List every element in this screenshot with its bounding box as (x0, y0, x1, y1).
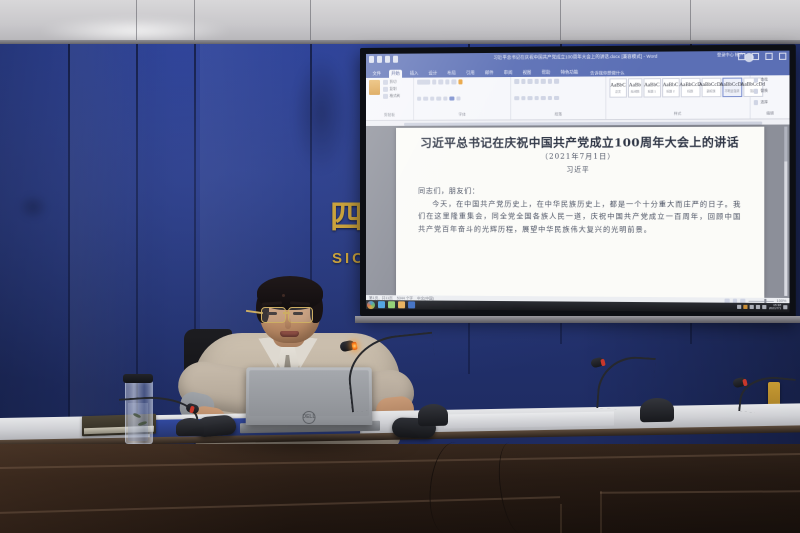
tab-review[interactable]: 审阅 (501, 69, 515, 77)
style-normal[interactable]: AaBbC正文 (609, 78, 627, 97)
projection-screen[interactable]: 习近平总书记在庆祝中国共产党成立100周年大会上的讲话.docx [兼容模式] … (360, 44, 796, 319)
format-painter-label: 格式刷 (390, 94, 401, 99)
nose (285, 317, 291, 329)
font-size-box[interactable] (432, 80, 437, 85)
grow-font-icon[interactable] (439, 79, 444, 84)
tab-insert[interactable]: 插入 (407, 70, 421, 78)
forehead-mark (282, 294, 285, 297)
glasses-lens-left (261, 307, 286, 323)
subscript-icon[interactable] (443, 96, 448, 101)
ribbon-group-font[interactable]: 字体 (414, 77, 512, 120)
tab-design[interactable]: 设计 (426, 69, 440, 77)
show-desktop-icon[interactable] (783, 306, 787, 310)
align-right-icon[interactable] (528, 96, 533, 101)
document-date: （2021年7月1日） (418, 150, 741, 164)
tab-help[interactable]: 帮助 (539, 69, 553, 77)
replace-label: 替换 (761, 89, 768, 94)
sort-icon[interactable] (548, 79, 553, 84)
style-title[interactable]: AaBbCcD标题 (680, 78, 700, 98)
align-left-icon[interactable] (515, 96, 520, 101)
glasses-bridge (283, 312, 290, 314)
scrollbar-thumb[interactable] (784, 127, 787, 162)
search-icon[interactable] (754, 78, 759, 83)
ceiling-seam (310, 0, 311, 44)
vertical-scrollbar[interactable] (784, 127, 787, 296)
copy-icon[interactable] (383, 87, 388, 92)
mic-base-center (640, 398, 674, 423)
ceiling (0, 0, 800, 44)
group-label-clipboard: 剪贴板 (369, 113, 410, 118)
redo-icon[interactable] (385, 56, 390, 63)
tab-references[interactable]: 引用 (463, 69, 477, 77)
find-label: 查找 (761, 77, 768, 82)
paste-icon[interactable] (369, 80, 380, 95)
cut-icon[interactable] (383, 80, 388, 85)
ribbon-display-options-icon[interactable] (738, 53, 745, 60)
podium-front (0, 444, 800, 533)
ceiling-seam (560, 0, 561, 44)
tab-file[interactable]: 文件 (370, 70, 384, 78)
tray-up-icon[interactable] (737, 305, 741, 309)
align-center-icon[interactable] (521, 96, 526, 101)
bold-icon[interactable] (417, 96, 422, 101)
ribbon-group-paragraph[interactable]: 段落 (511, 76, 606, 119)
document-page[interactable]: 习近平总书记在庆祝中国共产党成立100周年大会上的讲话 （2021年7月1日） … (396, 127, 764, 298)
restore-icon[interactable] (765, 53, 772, 60)
strikethrough-icon[interactable] (437, 96, 442, 101)
tab-home[interactable]: 开始 (389, 70, 403, 78)
screen-mount-bar (355, 316, 800, 323)
underline-icon[interactable] (430, 96, 435, 101)
shading-icon[interactable] (548, 95, 553, 100)
clock-date[interactable]: 2021/7/1 (769, 308, 781, 312)
ime-icon[interactable] (763, 305, 767, 309)
tab-mailings[interactable]: 邮件 (482, 69, 496, 77)
tab-view[interactable]: 视图 (520, 69, 534, 77)
clear-formatting-icon[interactable] (458, 79, 463, 84)
save-icon[interactable] (369, 56, 374, 63)
document-title: 习近平总书记在庆祝中国共产党成立100周年大会上的讲话 (418, 135, 741, 150)
style-subtle-emphasis[interactable]: AaBbCcDd不明显强调 (722, 78, 742, 98)
select-label: 选择 (761, 100, 768, 105)
line-spacing-icon[interactable] (541, 96, 546, 101)
screen-display-area: 习近平总书记在庆祝中国共产党成立100周年大会上的讲话.docx [兼容模式] … (366, 51, 790, 313)
close-icon[interactable] (779, 53, 786, 60)
group-label-paragraph: 段落 (515, 112, 603, 117)
font-name-box[interactable] (417, 80, 430, 85)
ribbon-group-editing[interactable]: 查找 替换 选择 编辑 (751, 75, 790, 118)
document-name: 习近平总书记在庆祝中国共产党成立100周年大会上的讲话.docx [兼容模式] … (493, 54, 657, 61)
cut-label: 剪切 (390, 80, 397, 85)
group-label-styles: 样式 (609, 111, 746, 117)
increase-indent-icon[interactable] (541, 79, 546, 84)
show-marks-icon[interactable] (554, 79, 559, 84)
style-heading-1[interactable]: AaBbC标题 1 (643, 78, 661, 97)
volume-icon[interactable] (756, 305, 760, 309)
shrink-font-icon[interactable] (445, 79, 450, 84)
undo-icon[interactable] (377, 56, 382, 63)
ceiling-seam (194, 0, 195, 44)
mic-base-left (176, 418, 204, 436)
select-icon[interactable] (754, 100, 759, 105)
copy-label: 复制 (390, 87, 397, 92)
style-no-spacing[interactable]: AaBb无间隔 (628, 78, 642, 97)
tab-layout[interactable]: 布局 (445, 69, 459, 77)
style-subtitle[interactable]: AaBbCcDd副标题 (701, 78, 721, 98)
ribbon-group-clipboard[interactable]: 剪切 复制 格式刷 剪贴板 (366, 78, 414, 120)
decrease-indent-icon[interactable] (534, 79, 539, 84)
minimize-icon[interactable] (752, 53, 759, 60)
ribbon[interactable]: 剪切 复制 格式刷 剪贴板 字体 段落 (366, 75, 790, 121)
ceiling-seam (136, 0, 137, 44)
system-tray[interactable]: 15:38 2021/7/1 (737, 304, 787, 311)
replace-icon[interactable] (754, 89, 759, 94)
mouth (280, 331, 299, 337)
group-label-editing: 编辑 (754, 111, 787, 116)
customize-qat-icon[interactable] (393, 56, 398, 63)
window-controls[interactable] (738, 53, 786, 61)
cup-lid (123, 374, 153, 383)
tab-features[interactable]: 特色功能 (558, 68, 581, 76)
ceiling-seam (690, 0, 691, 44)
format-painter-icon[interactable] (383, 94, 388, 99)
italic-icon[interactable] (423, 96, 428, 101)
multilevel-list-icon[interactable] (528, 79, 533, 84)
document-salutation: 同志们，朋友们： (418, 185, 741, 198)
mic-base-speaker (418, 404, 448, 427)
laptop-brand: DELL (302, 415, 315, 420)
windows-taskbar[interactable]: 15:38 2021/7/1 (366, 300, 790, 312)
bullets-icon[interactable] (515, 79, 520, 84)
zoom-slider[interactable] (748, 301, 773, 302)
font-color-icon[interactable] (456, 96, 461, 101)
quick-access-toolbar[interactable] (369, 56, 398, 63)
podium-panel-line (600, 491, 602, 533)
justify-icon[interactable] (534, 96, 539, 101)
dell-logo-icon: DELL (302, 411, 315, 424)
group-label-font: 字体 (417, 112, 507, 117)
document-canvas[interactable]: 习近平总书记在庆祝中国共产党成立100周年大会上的讲话 （2021年7月1日） … (366, 125, 790, 299)
glasses-lens-right (288, 307, 313, 323)
conference-room-scene: 四川 SIC 习近平总书记在庆祝中国共产党成立100周年大会上的讲话.docx … (0, 0, 800, 533)
tray-warning-icon[interactable] (744, 305, 748, 309)
change-case-icon[interactable] (452, 79, 457, 84)
style-heading-2[interactable]: AaBbC标题 2 (662, 78, 680, 97)
borders-icon[interactable] (554, 95, 559, 100)
text-highlight-icon[interactable] (450, 96, 455, 101)
podium-panel-line (560, 504, 562, 533)
network-icon[interactable] (750, 305, 754, 309)
numbering-icon[interactable] (521, 79, 526, 84)
document-author: 习近平 (418, 163, 741, 175)
document-paragraph: 今天，在中国共产党历史上，在中华民族历史上，都是一个十分重大而庄严的日子。我们在… (418, 198, 741, 237)
ribbon-group-styles[interactable]: AaBbC正文 AaBb无间隔 AaBbC标题 1 AaBbC标题 2 AaBb… (606, 75, 750, 119)
